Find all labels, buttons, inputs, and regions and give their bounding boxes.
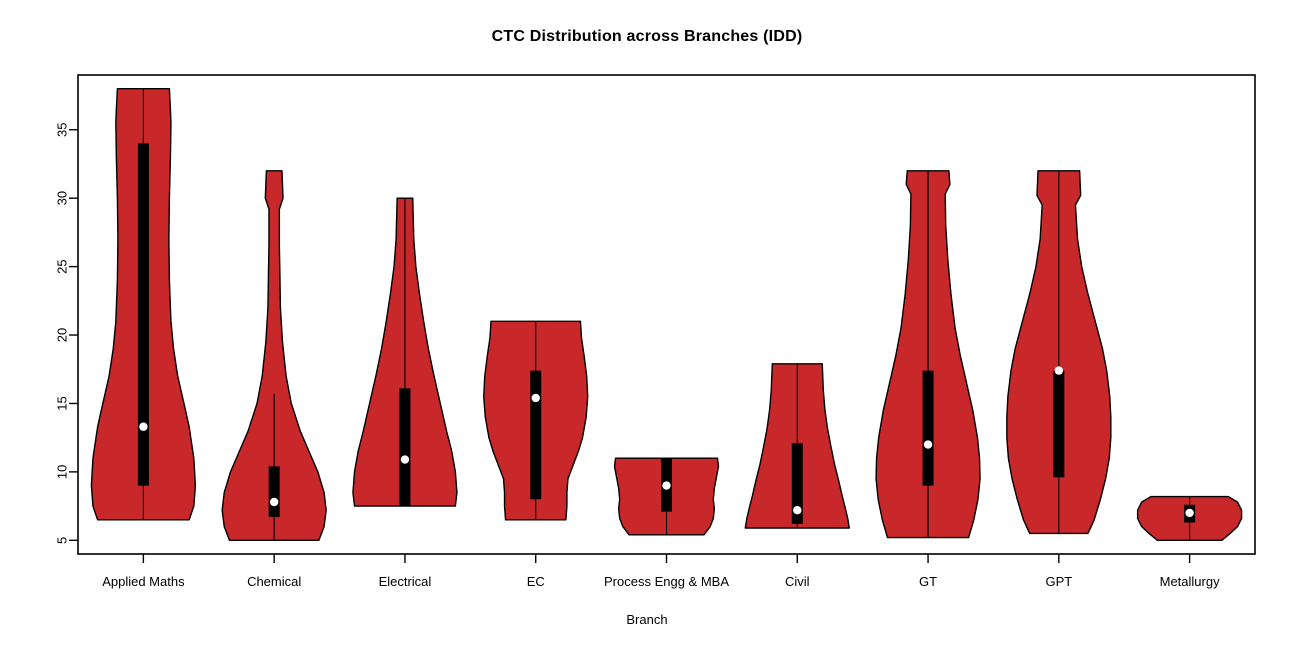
y-tick-label: 10	[55, 465, 70, 479]
median-marker	[139, 423, 147, 431]
y-tick-label: 25	[55, 259, 70, 273]
y-tick-label: 15	[55, 396, 70, 410]
y-tick-label: 35	[55, 123, 70, 137]
median-marker	[532, 394, 540, 402]
violin-gt	[876, 171, 980, 538]
median-marker	[662, 481, 670, 489]
x-tick-label: Chemical	[247, 574, 301, 589]
median-marker	[270, 498, 278, 506]
y-axis: 5101520253035	[55, 123, 79, 544]
median-marker	[924, 440, 932, 448]
median-marker	[1185, 509, 1193, 517]
violin-series-group	[91, 89, 1241, 541]
violin-plot-figure: CTC Distribution across Branches (IDD) C…	[0, 0, 1294, 653]
violin-ec	[484, 321, 588, 519]
x-tick-label: GPT	[1045, 574, 1072, 589]
violin-chemical	[222, 171, 326, 541]
median-marker	[1055, 366, 1063, 374]
violin-process-engg-mba	[615, 458, 719, 535]
x-tick-label: Process Engg & MBA	[604, 574, 729, 589]
x-tick-label: EC	[527, 574, 545, 589]
x-tick-label: Civil	[785, 574, 810, 589]
violin-civil	[745, 364, 849, 528]
x-tick-label: Applied Maths	[102, 574, 185, 589]
y-tick-label: 5	[55, 537, 70, 544]
median-marker	[401, 455, 409, 463]
violin-metallurgy	[1138, 497, 1242, 541]
median-marker	[793, 506, 801, 514]
x-tick-label: Electrical	[379, 574, 432, 589]
violin-electrical	[353, 198, 457, 506]
plot-canvas: 5101520253035 Applied MathsChemicalElect…	[0, 0, 1294, 653]
y-tick-label: 20	[55, 328, 70, 342]
x-axis: Applied MathsChemicalElectricalECProcess…	[102, 554, 1220, 589]
x-tick-label: Metallurgy	[1160, 574, 1220, 589]
y-tick-label: 30	[55, 191, 70, 205]
x-tick-label: GT	[919, 574, 937, 589]
violin-gpt	[1007, 171, 1111, 534]
violin-applied-maths	[91, 89, 195, 520]
